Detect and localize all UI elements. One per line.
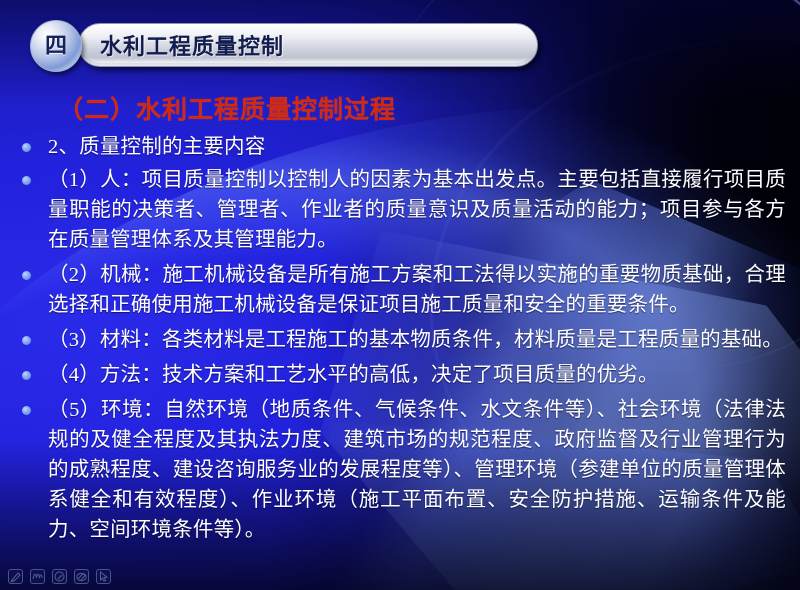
slide-nav-toolbar[interactable]: [8, 569, 111, 584]
marker-icon[interactable]: [52, 569, 67, 584]
bullet-item-machinery: （2）机械：施工机械设备是所有施工方案和工法得以实施的重要物质基础，合理选择和正…: [18, 260, 786, 320]
slide-subtitle: （二）水利工程质量控制过程: [58, 90, 396, 126]
section-number-label: 四: [45, 35, 67, 57]
slide-title: 水利工程质量控制: [100, 29, 284, 61]
pointer-icon[interactable]: [96, 569, 111, 584]
bullet-item-materials: （3）材料：各类材料是工程施工的基本物质条件，材料质量是工程质量的基础。: [18, 325, 786, 355]
section-number-badge: 四: [30, 20, 82, 72]
slide-header: 四 水利工程质量控制: [30, 20, 530, 72]
bullet-item-people: （1）人：项目质量控制以控制人的因素为基本出发点。主要包括直接履行项目质量职能的…: [18, 165, 786, 255]
bullet-dot-icon: [22, 143, 31, 152]
bullet-text: （2）机械：施工机械设备是所有施工方案和工法得以实施的重要物质基础，合理选择和正…: [48, 260, 786, 320]
bullet-item-methods: （4）方法：技术方案和工艺水平的高低，决定了项目质量的优劣。: [18, 360, 786, 390]
bullet-text: 2、质量控制的主要内容: [48, 132, 786, 162]
bullet-dot-icon: [22, 176, 31, 185]
pen-icon[interactable]: [8, 569, 23, 584]
bullet-text: （1）人：项目质量控制以控制人的因素为基本出发点。主要包括直接履行项目质量职能的…: [48, 165, 786, 255]
slide-body: 2、质量控制的主要内容 （1）人：项目质量控制以控制人的因素为基本出发点。主要包…: [18, 132, 786, 550]
eraser-icon[interactable]: [74, 569, 89, 584]
bullet-item-main-content: 2、质量控制的主要内容: [18, 132, 786, 162]
bullet-dot-icon: [22, 406, 31, 415]
bullet-text: （3）材料：各类材料是工程施工的基本物质条件，材料质量是工程质量的基础。: [48, 325, 786, 355]
bullet-dot-icon: [22, 271, 31, 280]
scribble-icon[interactable]: [30, 569, 45, 584]
presentation-slide: 四 水利工程质量控制 （二）水利工程质量控制过程 2、质量控制的主要内容 （1）…: [0, 0, 800, 590]
bullet-text: （5）环境：自然环境（地质条件、气候条件、水文条件等）、社会环境（法律法规的及健…: [48, 395, 786, 545]
bullet-dot-icon: [22, 371, 31, 380]
bullet-dot-icon: [22, 336, 31, 345]
bullet-text: （4）方法：技术方案和工艺水平的高低，决定了项目质量的优劣。: [48, 360, 786, 390]
bullet-item-environment: （5）环境：自然环境（地质条件、气候条件、水文条件等）、社会环境（法律法规的及健…: [18, 395, 786, 545]
